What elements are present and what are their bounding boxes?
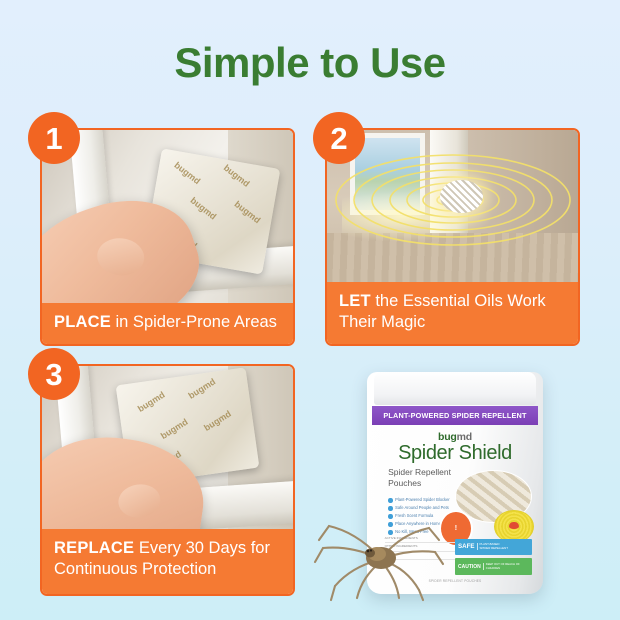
step-3-caption: REPLACE Every 30 Days for Continuous Pro… — [42, 529, 293, 594]
safe-description: PLANT-BASED SPIDER REPELLENT — [477, 543, 508, 550]
window-frame-scene-icon: bugmd bugmd bugmd bugmd bugmd — [42, 366, 293, 529]
spider-illustration-icon — [313, 506, 445, 602]
steps-grid: bugmd bugmd bugmd bugmd bugmd PLACE in S… — [40, 128, 580, 598]
step-1-photo: bugmd bugmd bugmd bugmd bugmd — [42, 130, 293, 303]
step-2-photo — [327, 130, 578, 282]
product-name: Spider Shield — [367, 442, 543, 465]
safe-label: SAFE — [458, 543, 475, 550]
product-showcase: PLANT-POWERED SPIDER REPELLENT bugmd Spi… — [325, 364, 580, 596]
step-2-keyword: LET — [339, 292, 371, 310]
step-1-caption: PLACE in Spider-Prone Areas — [42, 303, 293, 344]
room-corner-scene-icon — [327, 130, 578, 282]
step-card-3: bugmd bugmd bugmd bugmd bugmd REPLACE Ev… — [40, 364, 295, 596]
step-2-caption: LET the Essential Oils Work Their Magic — [327, 282, 578, 344]
step-1-keyword: PLACE — [54, 313, 111, 331]
product-subtitle: Spider Repellent Pouches — [388, 467, 451, 488]
step-2-text: the Essential Oils Work Their Magic — [339, 292, 546, 331]
safe-badge: SAFE PLANT-BASED SPIDER REPELLENT — [455, 539, 532, 556]
step-3-keyword: REPLACE — [54, 539, 134, 557]
caution-badge: CAUTION KEEP OUT OF REACH OF CHILDREN — [455, 558, 532, 575]
repellent-pouch-icon — [440, 180, 483, 213]
step-number-badge-3: 3 — [28, 348, 80, 400]
package-top-seal — [374, 372, 536, 405]
caution-description: KEEP OUT OF REACH OF CHILDREN — [483, 563, 530, 570]
step-number-badge-1: 1 — [28, 112, 80, 164]
caution-label: CAUTION — [458, 564, 481, 570]
windowsill-scene-icon: bugmd bugmd bugmd bugmd bugmd — [42, 130, 293, 303]
step-card-1: bugmd bugmd bugmd bugmd bugmd PLACE in S… — [40, 128, 295, 346]
step-1-text: in Spider-Prone Areas — [111, 313, 277, 331]
package-banner: PLANT-POWERED SPIDER REPELLENT — [372, 406, 537, 425]
quality-seal-icon — [494, 510, 534, 543]
page-title: Simple to Use — [0, 0, 620, 84]
step-number-badge-2: 2 — [313, 112, 365, 164]
step-card-2: LET the Essential Oils Work Their Magic … — [325, 128, 580, 346]
step-3-photo: bugmd bugmd bugmd bugmd bugmd — [42, 366, 293, 529]
